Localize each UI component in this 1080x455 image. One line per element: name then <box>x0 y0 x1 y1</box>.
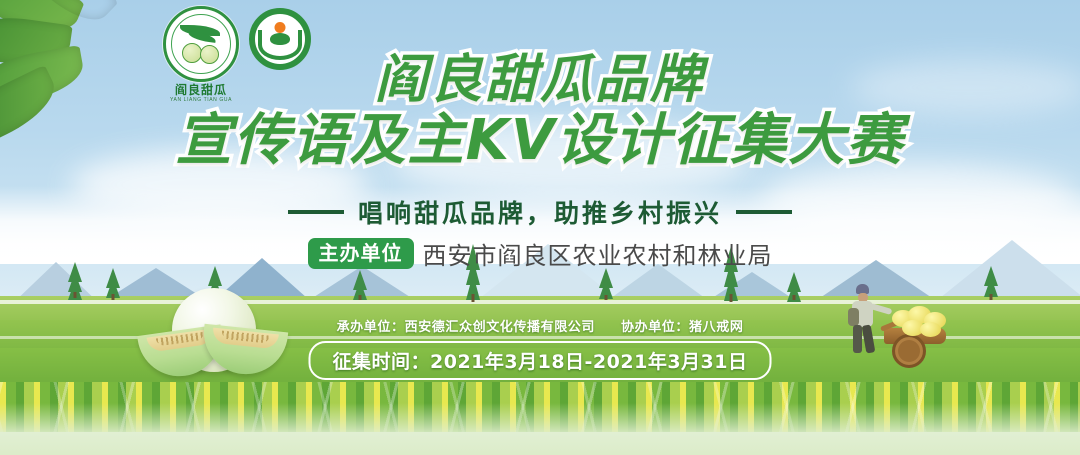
promotional-banner: 阎良甜瓜 YAN LIANG TIAN GUA 阎良甜瓜品牌 宣传语及主KV设计… <box>0 0 1080 455</box>
farmer-arm <box>870 303 893 315</box>
leaf-swoosh-icon <box>180 25 220 36</box>
host-name: 西安市阎良区农业农村和林业局 <box>423 236 773 271</box>
support-row: 承办单位：西安德汇众创文化传播有限公司协办单位：猪八戒网 <box>0 316 1080 335</box>
conifer-tree <box>982 266 1000 300</box>
coorganizer-name: 猪八戒网 <box>689 320 743 335</box>
submission-date-pill: 征集时间：2021年3月18日-2021年3月31日 <box>309 341 772 380</box>
subtitle-text: 唱响甜瓜品牌，助推乡村振兴 <box>358 199 722 228</box>
host-badge: 主办单位 <box>308 238 414 269</box>
subtitle-dash-right <box>736 210 792 214</box>
bottom-fade <box>0 403 1080 455</box>
conifer-tree <box>104 268 122 300</box>
main-title: 阎良甜瓜品牌 宣传语及主KV设计征集大赛 <box>0 52 1080 172</box>
coorganizer-label: 协办单位： <box>621 320 689 335</box>
conifer-tree <box>786 272 801 300</box>
conifer-tree <box>352 270 368 300</box>
host-row: 主办单位 西安市阎良区农业农村和林业局 <box>0 236 1080 271</box>
title-line-2: 宣传语及主KV设计征集大赛 <box>0 110 1080 172</box>
subtitle: 唱响甜瓜品牌，助推乡村振兴 <box>0 194 1080 230</box>
title-line-1: 阎良甜瓜品牌 <box>0 52 1080 108</box>
organizer-name: 西安德汇众创文化传播有限公司 <box>405 320 595 335</box>
conifer-tree <box>598 268 614 300</box>
subtitle-dash-left <box>288 210 344 214</box>
leaf-swoosh-icon <box>188 31 217 43</box>
wheelbarrow-wheel <box>892 334 926 368</box>
organizer-label: 承办单位： <box>337 320 405 335</box>
